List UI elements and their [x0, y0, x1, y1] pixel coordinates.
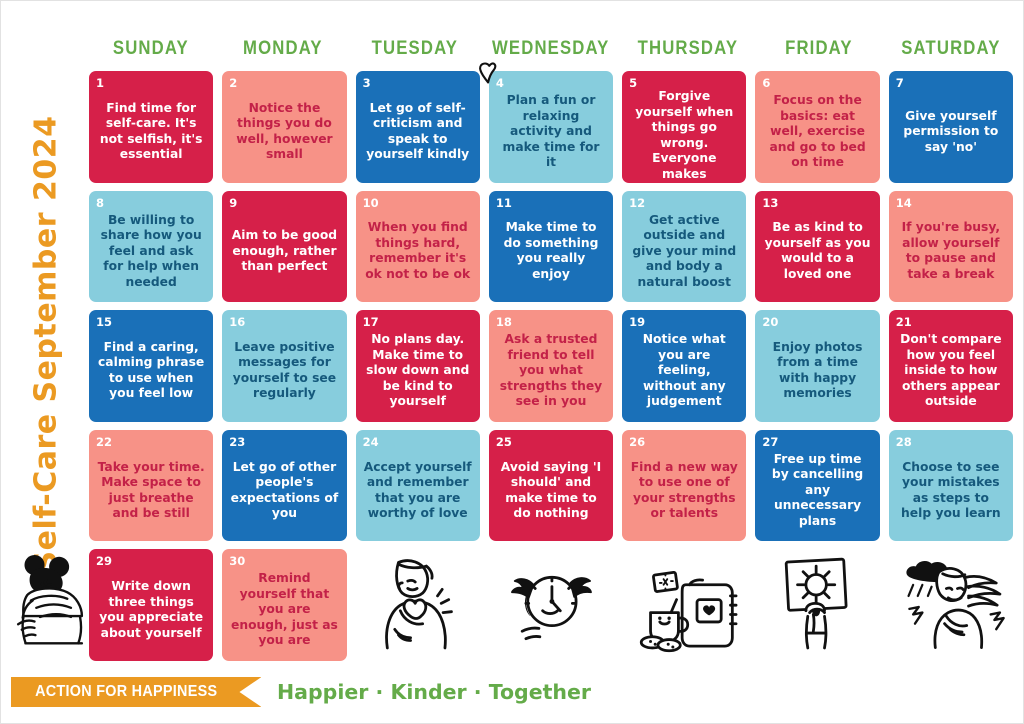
day-action-text: Enjoy photos from a time with happy memo… [762, 328, 872, 414]
calendar-day-cell: 7Give yourself permission to say 'no' [889, 71, 1013, 183]
person-under-storm-cloud-doodle [889, 549, 1013, 661]
day-number: 7 [896, 77, 1006, 89]
calendar-day-cell: 2Notice the things you do well, however … [222, 71, 346, 183]
day-action-text: Accept yourself and remember that you ar… [363, 448, 473, 534]
weekday-header-friday: FRIDAY [765, 34, 874, 64]
calendar-day-cell: 19Notice what you are feeling, without a… [622, 310, 746, 422]
day-number: 27 [762, 436, 872, 448]
day-action-text: Make time to do something you really enj… [496, 209, 606, 295]
day-number: 8 [96, 197, 206, 209]
day-number: 26 [629, 436, 739, 448]
day-number: 13 [762, 197, 872, 209]
day-number: 17 [363, 316, 473, 328]
day-number: 30 [229, 555, 339, 567]
day-action-text: Leave positive messages for yourself to … [229, 328, 339, 414]
brand-flag: ACTION FOR HAPPINESS [11, 677, 261, 707]
day-action-text: Ask a trusted friend to tell you what st… [496, 328, 606, 414]
calendar-day-cell: 8Be willing to share how you feel and as… [89, 191, 213, 303]
calendar-day-cell: 15Find a caring, calming phrase to use w… [89, 310, 213, 422]
day-number: 24 [363, 436, 473, 448]
calendar-day-cell: 20Enjoy photos from a time with happy me… [755, 310, 879, 422]
calendar-day-cell: 3Let go of self-criticism and speak to y… [356, 71, 480, 183]
person-hugging-self-doodle [9, 551, 91, 651]
day-action-text: Focus on the basics: eat well, exercise … [762, 89, 872, 175]
day-number: 3 [363, 77, 473, 89]
day-number: 4 [496, 77, 606, 89]
day-action-text: Forgive yourself when things go wrong. E… [629, 89, 739, 183]
day-number: 19 [629, 316, 739, 328]
day-number: 14 [896, 197, 1006, 209]
day-number: 11 [496, 197, 606, 209]
day-action-text: Find a caring, calming phrase to use whe… [96, 328, 206, 414]
calendar-day-cell: 24Accept yourself and remember that you … [356, 430, 480, 542]
weekday-header-row: SUNDAYMONDAYTUESDAYWEDNESDAYTHURSDAYFRID… [89, 34, 1013, 64]
day-action-text: Remind yourself that you are enough, jus… [229, 567, 339, 653]
day-number: 15 [96, 316, 206, 328]
calendar-day-cell: 28Choose to see your mistakes as steps t… [889, 430, 1013, 542]
day-action-text: Get active outside and give your mind an… [629, 209, 739, 295]
day-action-text: Notice what you are feeling, without any… [629, 328, 739, 414]
calendar-day-cell: 4Plan a fun or relaxing activity and mak… [489, 71, 613, 183]
day-number: 21 [896, 316, 1006, 328]
day-action-text: Find time for self-care. It's not selfis… [96, 89, 206, 175]
day-action-text: Plan a fun or relaxing activity and make… [496, 89, 606, 175]
calendar-day-cell: 9Aim to be good enough, rather than perf… [222, 191, 346, 303]
flying-alarm-clock-doodle [489, 549, 613, 661]
day-number: 20 [762, 316, 872, 328]
day-action-text: Let go of other people's expectations of… [229, 448, 339, 534]
day-action-text: Notice the things you do well, however s… [229, 89, 339, 175]
self-care-calendar-poster: Self-Care September 2024 SUNDAYMONDAYTUE… [0, 0, 1024, 724]
day-action-text: Be willing to share how you feel and ask… [96, 209, 206, 295]
kettle-and-mug-doodle [622, 549, 746, 661]
page-title: Self-Care September 2024 [29, 116, 64, 573]
calendar-day-cell: 5Forgive yourself when things go wrong. … [622, 71, 746, 183]
calendar-day-cell: 11Make time to do something you really e… [489, 191, 613, 303]
person-hand-on-heart-doodle [356, 549, 480, 661]
calendar-day-cell: 17No plans day. Make time to slow down a… [356, 310, 480, 422]
day-number: 1 [96, 77, 206, 89]
calendar-day-cell: 29Write down three things you appreciate… [89, 549, 213, 661]
weekday-header-tuesday: TUESDAY [360, 34, 469, 64]
calendar-grid: 1Find time for self-care. It's not selfi… [89, 71, 1013, 661]
day-number: 6 [762, 77, 872, 89]
day-action-text: Don't compare how you feel inside to how… [896, 328, 1006, 414]
day-number: 9 [229, 197, 339, 209]
calendar-day-cell: 14If you're busy, allow yourself to paus… [889, 191, 1013, 303]
day-number: 5 [629, 77, 739, 89]
calendar-day-cell: 18Ask a trusted friend to tell you what … [489, 310, 613, 422]
calendar-day-cell: 30Remind yourself that you are enough, j… [222, 549, 346, 661]
day-action-text: Write down three things you appreciate a… [96, 567, 206, 653]
day-number: 12 [629, 197, 739, 209]
calendar-day-cell: 27Free up time by cancelling any unneces… [755, 430, 879, 542]
day-action-text: Find a new way to use one of your streng… [629, 448, 739, 534]
day-number: 10 [363, 197, 473, 209]
calendar-day-cell: 25Avoid saying 'I should' and make time … [489, 430, 613, 542]
day-action-text: Be as kind to yourself as you would to a… [762, 209, 872, 295]
day-action-text: Choose to see your mistakes as steps to … [896, 448, 1006, 534]
day-number: 2 [229, 77, 339, 89]
calendar-day-cell: 12Get active outside and give your mind … [622, 191, 746, 303]
day-action-text: If you're busy, allow yourself to pause … [896, 209, 1006, 295]
calendar-day-cell: 26Find a new way to use one of your stre… [622, 430, 746, 542]
day-action-text: Free up time by cancelling any unnecessa… [762, 448, 872, 534]
weekday-header-monday: MONDAY [228, 34, 337, 64]
brand-name: ACTION FOR HAPPINESS [35, 683, 217, 701]
day-action-text: Avoid saying 'I should' and make time to… [496, 448, 606, 534]
day-action-text: Give yourself permission to say 'no' [896, 89, 1006, 175]
day-number: 25 [496, 436, 606, 448]
day-number: 29 [96, 555, 206, 567]
calendar-day-cell: 16Leave positive messages for yourself t… [222, 310, 346, 422]
day-number: 16 [229, 316, 339, 328]
calendar-day-cell: 21Don't compare how you feel inside to h… [889, 310, 1013, 422]
day-number: 28 [896, 436, 1006, 448]
tagline: Happier · Kinder · Together [277, 677, 591, 707]
calendar-day-cell: 6Focus on the basics: eat well, exercise… [755, 71, 879, 183]
calendar-day-cell: 13Be as kind to yourself as you would to… [755, 191, 879, 303]
day-action-text: Aim to be good enough, rather than perfe… [229, 209, 339, 295]
calendar-day-cell: 22Take your time. Make space to just bre… [89, 430, 213, 542]
person-holding-sun-sign-doodle [755, 549, 879, 661]
footer-bar: ACTION FOR HAPPINESS Happier · Kinder · … [11, 677, 1015, 707]
day-number: 18 [496, 316, 606, 328]
day-action-text: No plans day. Make time to slow down and… [363, 328, 473, 414]
day-action-text: When you find things hard, remember it's… [363, 209, 473, 295]
calendar-day-cell: 23Let go of other people's expectations … [222, 430, 346, 542]
calendar-day-cell: 10When you find things hard, remember it… [356, 191, 480, 303]
weekday-header-thursday: THURSDAY [633, 34, 742, 64]
weekday-header-wednesday: WEDNESDAY [492, 34, 609, 64]
day-number: 23 [229, 436, 339, 448]
day-number: 22 [96, 436, 206, 448]
weekday-header-sunday: SUNDAY [96, 34, 205, 64]
weekday-header-saturday: SATURDAY [897, 34, 1006, 64]
day-action-text: Let go of self-criticism and speak to yo… [363, 89, 473, 175]
calendar-day-cell: 1Find time for self-care. It's not selfi… [89, 71, 213, 183]
day-action-text: Take your time. Make space to just breat… [96, 448, 206, 534]
